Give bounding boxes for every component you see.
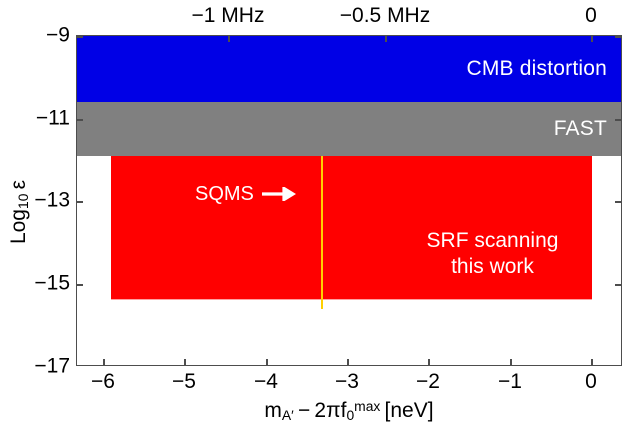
region-label-cmb-distortion: CMB distortion (466, 58, 607, 79)
x-tick-mark-3 (347, 359, 349, 365)
x-top-tick-label-1: −0.5 MHz (340, 5, 430, 26)
y-right-tick-mark-4 (615, 365, 621, 366)
srf-annotation-line2: this work (395, 254, 590, 280)
y-right-tick-mark-2 (615, 201, 621, 203)
x-tick-mark-4 (428, 359, 430, 365)
x-axis-title-text: mA′ − 2πf0max [neV] (264, 399, 433, 422)
x-top-tick-mark-1 (385, 36, 387, 42)
x-top-tick-label-0: −1 MHz (192, 5, 265, 26)
x-top-tick-mark-2 (591, 36, 593, 42)
x-tick-mark-2 (266, 359, 268, 365)
sqms-marker-line (321, 156, 323, 309)
y-tick-label-0: −9 (46, 25, 70, 46)
y-tick-mark-2 (77, 201, 83, 203)
y-right-tick-mark-3 (615, 284, 621, 286)
srf-annotation-line1: SRF scanning (395, 228, 590, 254)
x-tick-label-2: −4 (254, 371, 278, 392)
region-label-fast: FAST (554, 118, 607, 139)
sqms-annotation-text: SQMS (195, 184, 254, 204)
srf-annotation: SRF scanning this work (395, 228, 590, 279)
y-axis-title-text: Log10 ε (7, 180, 30, 244)
x-top-tick-mark-0 (228, 36, 230, 42)
plot-area: CMB distortion FAST SQMS SRF scanning th… (76, 35, 622, 366)
y-tick-label-1: −11 (36, 108, 70, 129)
y-tick-mark-1 (77, 119, 83, 121)
y-tick-mark-0 (77, 36, 83, 38)
x-tick-label-5: −1 (498, 371, 522, 392)
y-tick-label-2: −13 (34, 190, 70, 211)
x-tick-label-4: −2 (416, 371, 440, 392)
y-tick-label-4: −17 (34, 356, 70, 377)
x-top-tick-label-2: 0 (585, 5, 597, 26)
figure-canvas: Log10 ε −9 −11 −13 −15 −17 −1 MHz −0.5 M… (0, 0, 630, 433)
y-tick-mark-3 (77, 284, 83, 286)
x-tick-mark-1 (184, 359, 186, 365)
x-tick-label-3: −3 (335, 371, 359, 392)
arrow-right-icon (262, 187, 296, 201)
region-fast (77, 102, 621, 156)
x-axis-title: mA′ − 2πf0max [neV] (76, 398, 622, 423)
x-tick-mark-5 (510, 359, 512, 365)
y-tick-label-3: −15 (34, 273, 70, 294)
y-tick-mark-4 (77, 365, 83, 366)
x-tick-label-0: −6 (91, 371, 115, 392)
y-axis-title: Log10 ε (7, 132, 31, 292)
x-tick-label-6: 0 (585, 371, 597, 392)
sqms-annotation: SQMS (195, 184, 296, 204)
y-right-tick-mark-0 (615, 36, 621, 38)
y-right-tick-mark-1 (615, 119, 621, 121)
x-tick-mark-0 (103, 359, 105, 365)
x-tick-mark-6 (591, 359, 593, 365)
x-tick-label-1: −5 (172, 371, 196, 392)
